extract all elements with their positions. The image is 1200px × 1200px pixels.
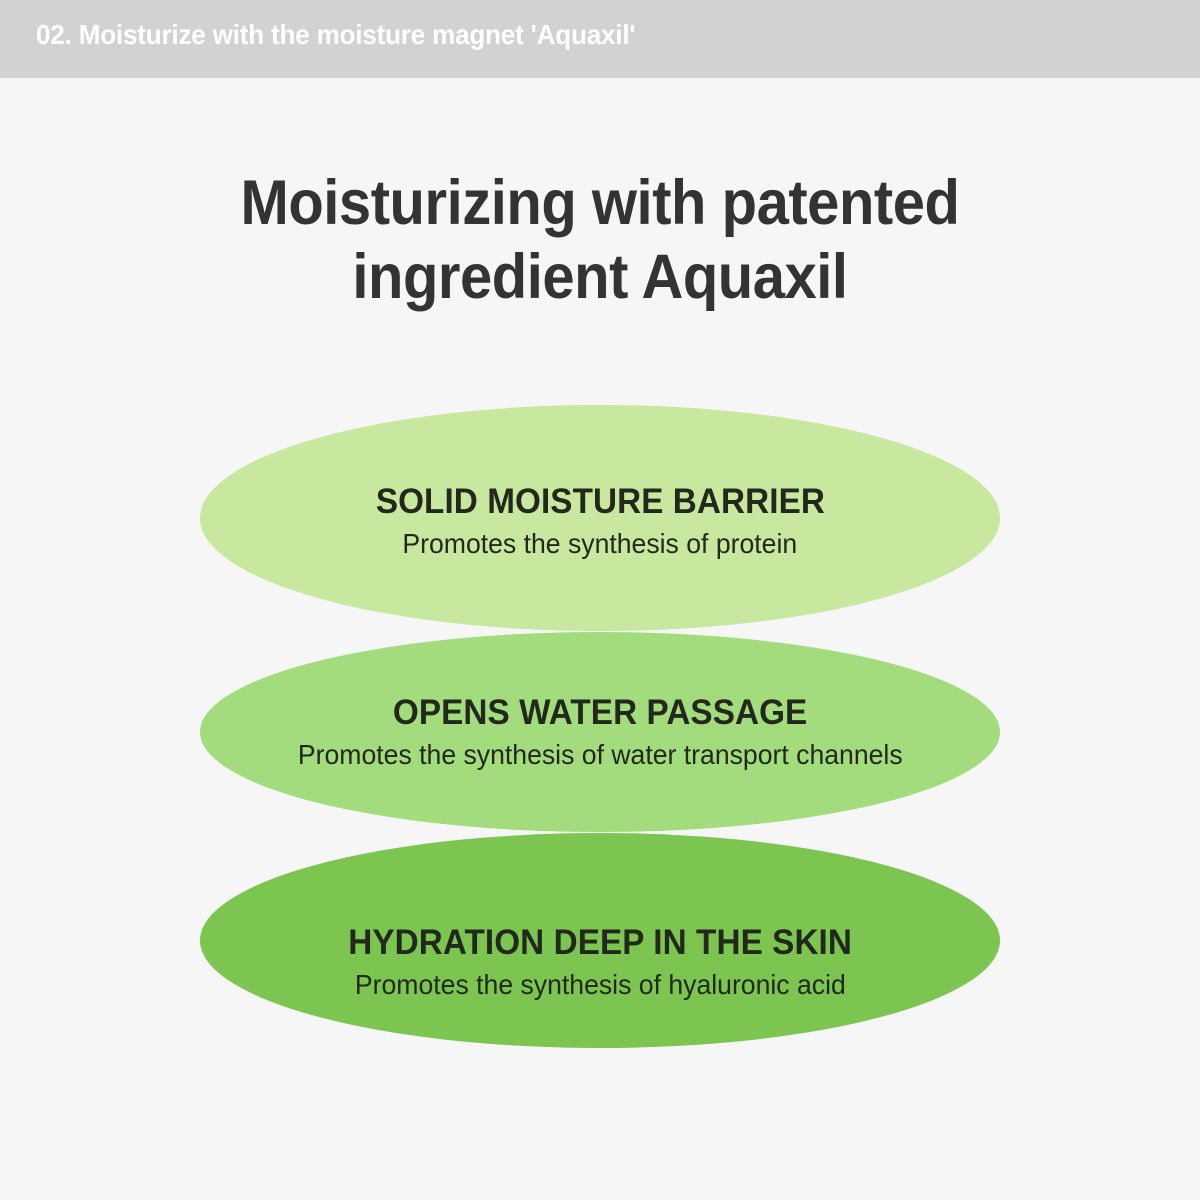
diagram-layer-text: HYDRATION DEEP IN THE SKIN Promotes the … [335,923,865,1001]
diagram-layer-heading: OPENS WATER PASSAGE [393,693,807,733]
diagram-layer-subtitle: Promotes the synthesis of protein [403,528,798,560]
diagram-layer-text: SOLID MOISTURE BARRIER Promotes the synt… [364,482,837,560]
diagram-layer-hydration-deep-in-the-skin: HYDRATION DEEP IN THE SKIN Promotes the … [200,833,1000,1048]
diagram-layer-subtitle: Promotes the synthesis of hyaluronic aci… [355,969,846,1001]
ellipse-layer-diagram: SOLID MOISTURE BARRIER Promotes the synt… [0,0,1200,1200]
diagram-layer-subtitle: Promotes the synthesis of water transpor… [298,739,903,771]
diagram-layer-text: OPENS WATER PASSAGE Promotes the synthes… [282,693,919,771]
diagram-layer-solid-moisture-barrier: SOLID MOISTURE BARRIER Promotes the synt… [200,405,1000,631]
diagram-layer-heading: SOLID MOISTURE BARRIER [375,482,824,522]
diagram-layer-opens-water-passage: OPENS WATER PASSAGE Promotes the synthes… [200,632,1000,832]
diagram-layer-heading: HYDRATION DEEP IN THE SKIN [348,923,852,963]
